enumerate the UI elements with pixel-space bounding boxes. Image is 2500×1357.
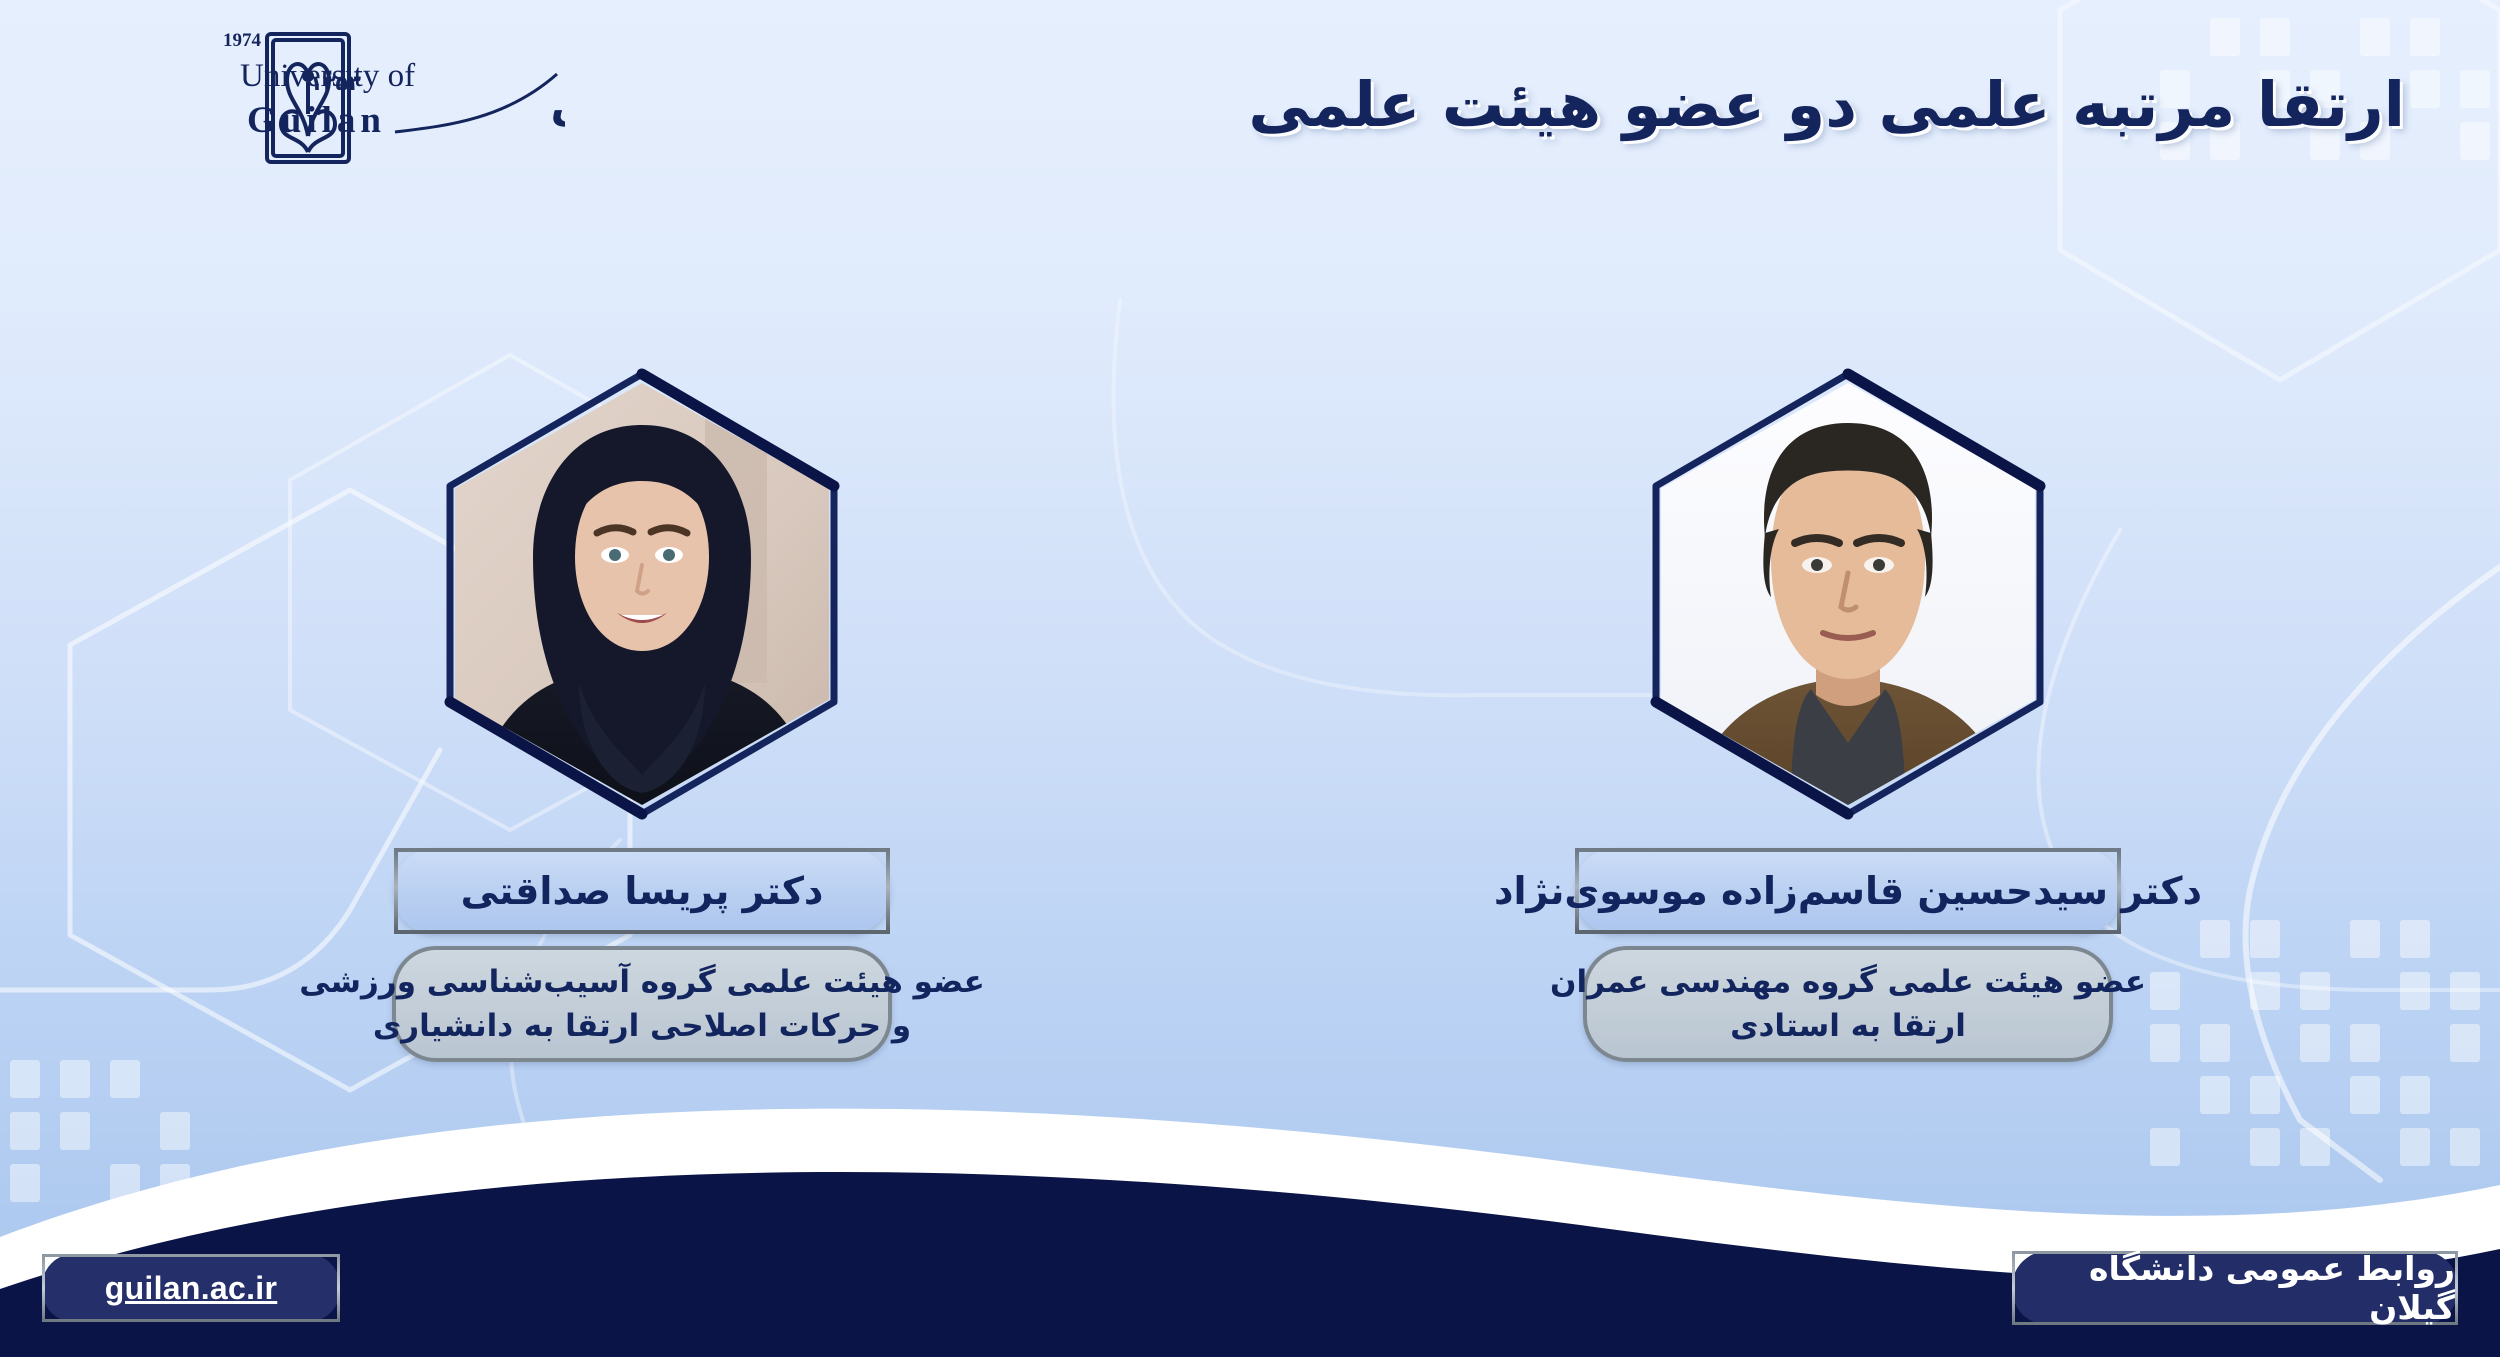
logo-emblem-icon <box>267 34 349 162</box>
person-name-label: دکتر پریسا صداقتی <box>394 848 890 934</box>
person-role-label: عضو هیئت علمی گروه آسیب‌شناسی ورزشی و حر… <box>392 946 892 1062</box>
photo-hexagon-left <box>442 368 842 820</box>
university-logo: 1974 University of Guilan ۱۳۵۳ دانشگاه گ… <box>95 28 565 168</box>
person-role-line1: عضو هیئت علمی گروه مهندسی عمران <box>1550 960 2146 1004</box>
page-title: ارتقا مرتبه علمی دو عضو هیئت علمی <box>905 64 2405 146</box>
hexagon-frame-right-icon <box>1648 368 2048 820</box>
person-name-label: دکتر سیدحسین قاسم‌زاده موسوی‌نژاد <box>1575 848 2121 934</box>
person-role-line2: و حرکات اصلاحی ارتقا به دانشیاری <box>373 1004 911 1048</box>
person-role-line2: ارتقا به استادی <box>1730 1004 1966 1048</box>
hexagon-frame-left-icon <box>442 368 842 820</box>
person-card-sedaghati: دکتر پریسا صداقتی عضو هیئت علمی گروه آسی… <box>262 368 1022 1062</box>
photo-hexagon-right <box>1648 368 2048 820</box>
website-link[interactable]: guilan.ac.ir <box>42 1254 340 1322</box>
public-relations-badge: روابط عمومی دانشگاه گیلان <box>2012 1251 2458 1325</box>
logo-year-fa: ۱۳۵۳ <box>310 71 361 95</box>
person-role-line1: عضو هیئت علمی گروه آسیب‌شناسی ورزشی <box>299 960 985 1004</box>
announcement-poster: 1974 University of Guilan ۱۳۵۳ دانشگاه گ… <box>0 0 2500 1357</box>
logo-name-fa: دانشگاه گیلان <box>549 81 565 130</box>
person-card-ghasemzadeh: دکتر سیدحسین قاسم‌زاده موسوی‌نژاد عضو هی… <box>1468 368 2228 1062</box>
person-role-label: عضو هیئت علمی گروه مهندسی عمران ارتقا به… <box>1583 946 2113 1062</box>
logo-year-en: 1974 <box>223 30 262 51</box>
